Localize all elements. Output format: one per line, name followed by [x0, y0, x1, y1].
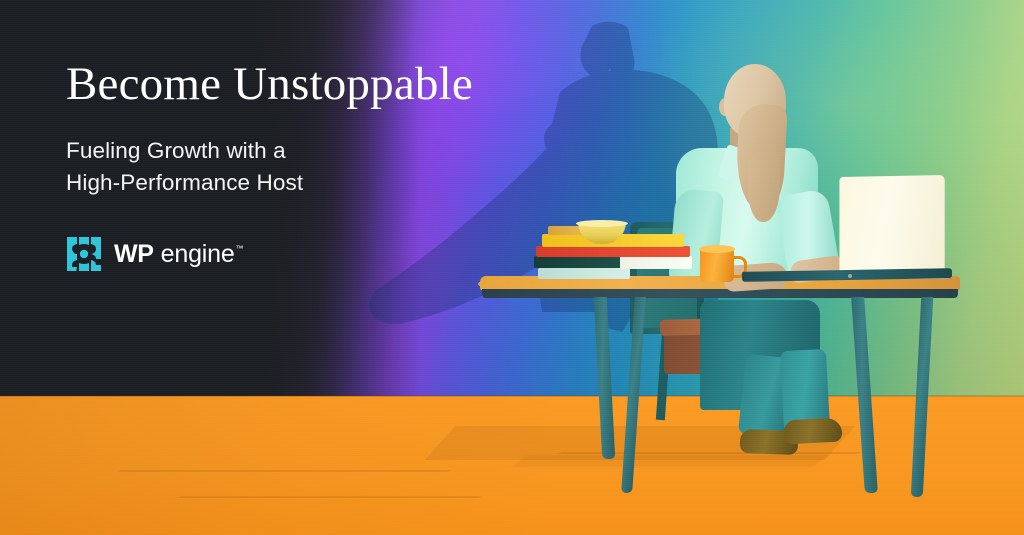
book-item — [538, 268, 630, 279]
wp-engine-grid-icon — [66, 236, 102, 272]
laptop-screen — [839, 175, 944, 277]
person-beard-lower — [748, 150, 780, 222]
mug-rim — [699, 245, 735, 253]
trademark-symbol: ™ — [236, 245, 244, 253]
page-title: Become Unstoppable — [66, 60, 566, 109]
wp-engine-promo-banner: Become Unstoppable Fueling Growth with a… — [0, 0, 1024, 535]
person-shoe-right — [783, 417, 842, 444]
laptop-indicator-dot — [848, 274, 852, 278]
subtitle-line-2: High-Performance Host — [66, 167, 566, 199]
subtitle-line-1: Fueling Growth with a — [66, 138, 286, 163]
floor-streak — [118, 470, 451, 472]
wp-engine-logo[interactable]: WP engine ™ — [66, 236, 244, 272]
logo-wp-text: WP — [114, 242, 154, 267]
text-content-block: Become Unstoppable Fueling Growth with a… — [66, 60, 566, 199]
bowl-rim — [576, 220, 628, 227]
subtitle: Fueling Growth with a High-Performance H… — [66, 135, 566, 199]
desk-apron — [482, 289, 958, 298]
chair-floor-shadow — [512, 455, 827, 467]
book-item — [534, 256, 630, 268]
logo-engine-text: engine — [161, 242, 235, 267]
coffee-mug — [700, 248, 734, 282]
book-item — [536, 246, 690, 257]
book-item — [620, 256, 692, 269]
floor-streak — [178, 496, 481, 498]
wp-engine-wordmark: WP engine ™ — [114, 242, 244, 267]
